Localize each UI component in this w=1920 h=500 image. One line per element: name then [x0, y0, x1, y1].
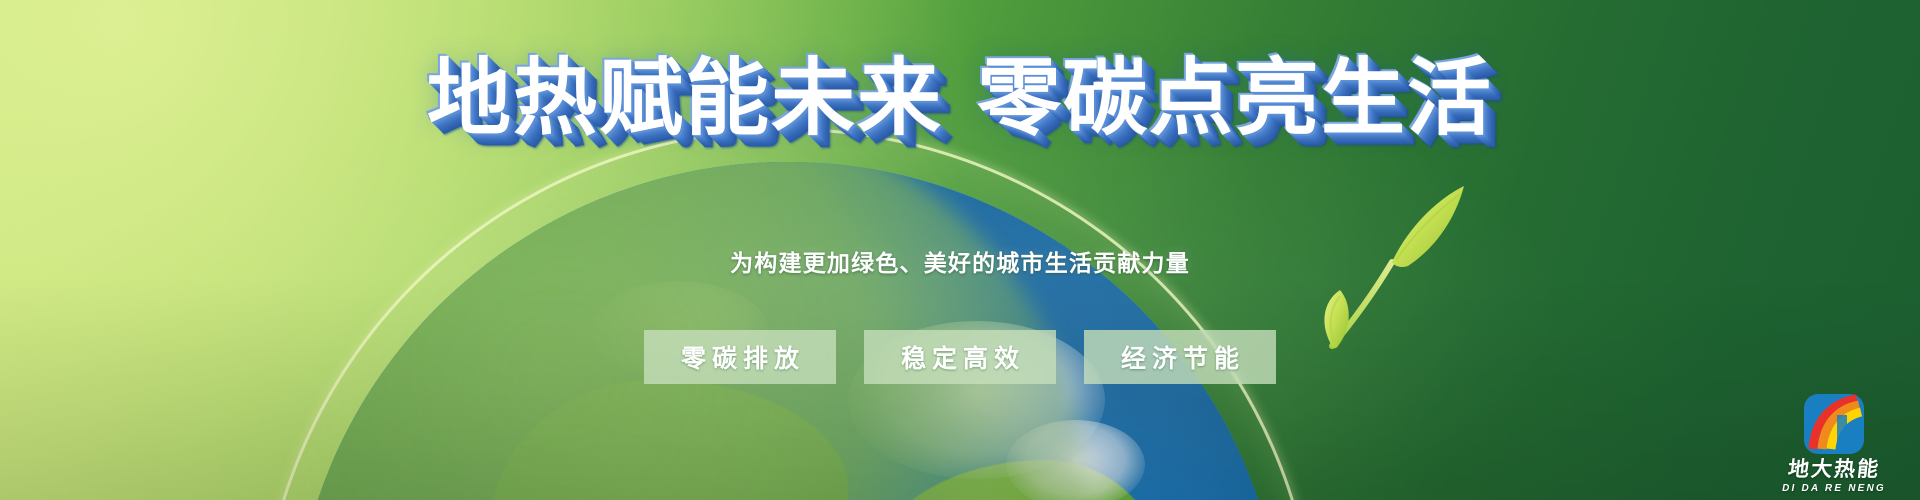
feature-tag-economic-saving[interactable]: 经济节能 [1084, 330, 1276, 384]
title-part-2: 零碳点亮生活 [977, 51, 1493, 145]
company-logo[interactable]: 地大热能 DI DA RE NENG [1770, 393, 1898, 494]
logo-name-en: DI DA RE NENG [1770, 483, 1898, 494]
feature-tag-stable-efficient[interactable]: 稳定高效 [864, 330, 1056, 384]
logo-name-cn: 地大热能 [1769, 459, 1899, 481]
feature-tag-row: 零碳排放 稳定高效 经济节能 [0, 330, 1920, 384]
banner-title: 地热赋能未来零碳点亮生活 [0, 56, 1920, 142]
banner-subtitle: 为构建更加绿色、美好的城市生活贡献力量 [0, 244, 1920, 278]
rainbow-arc-in-rounded-square-icon [1803, 393, 1865, 455]
feature-tag-zero-carbon[interactable]: 零碳排放 [644, 330, 836, 384]
hero-banner: 地热赋能未来零碳点亮生活 为构建更加绿色、美好的城市生活贡献力量 零碳排放 稳定… [0, 0, 1920, 500]
title-part-1: 地热赋能未来 [427, 51, 943, 145]
